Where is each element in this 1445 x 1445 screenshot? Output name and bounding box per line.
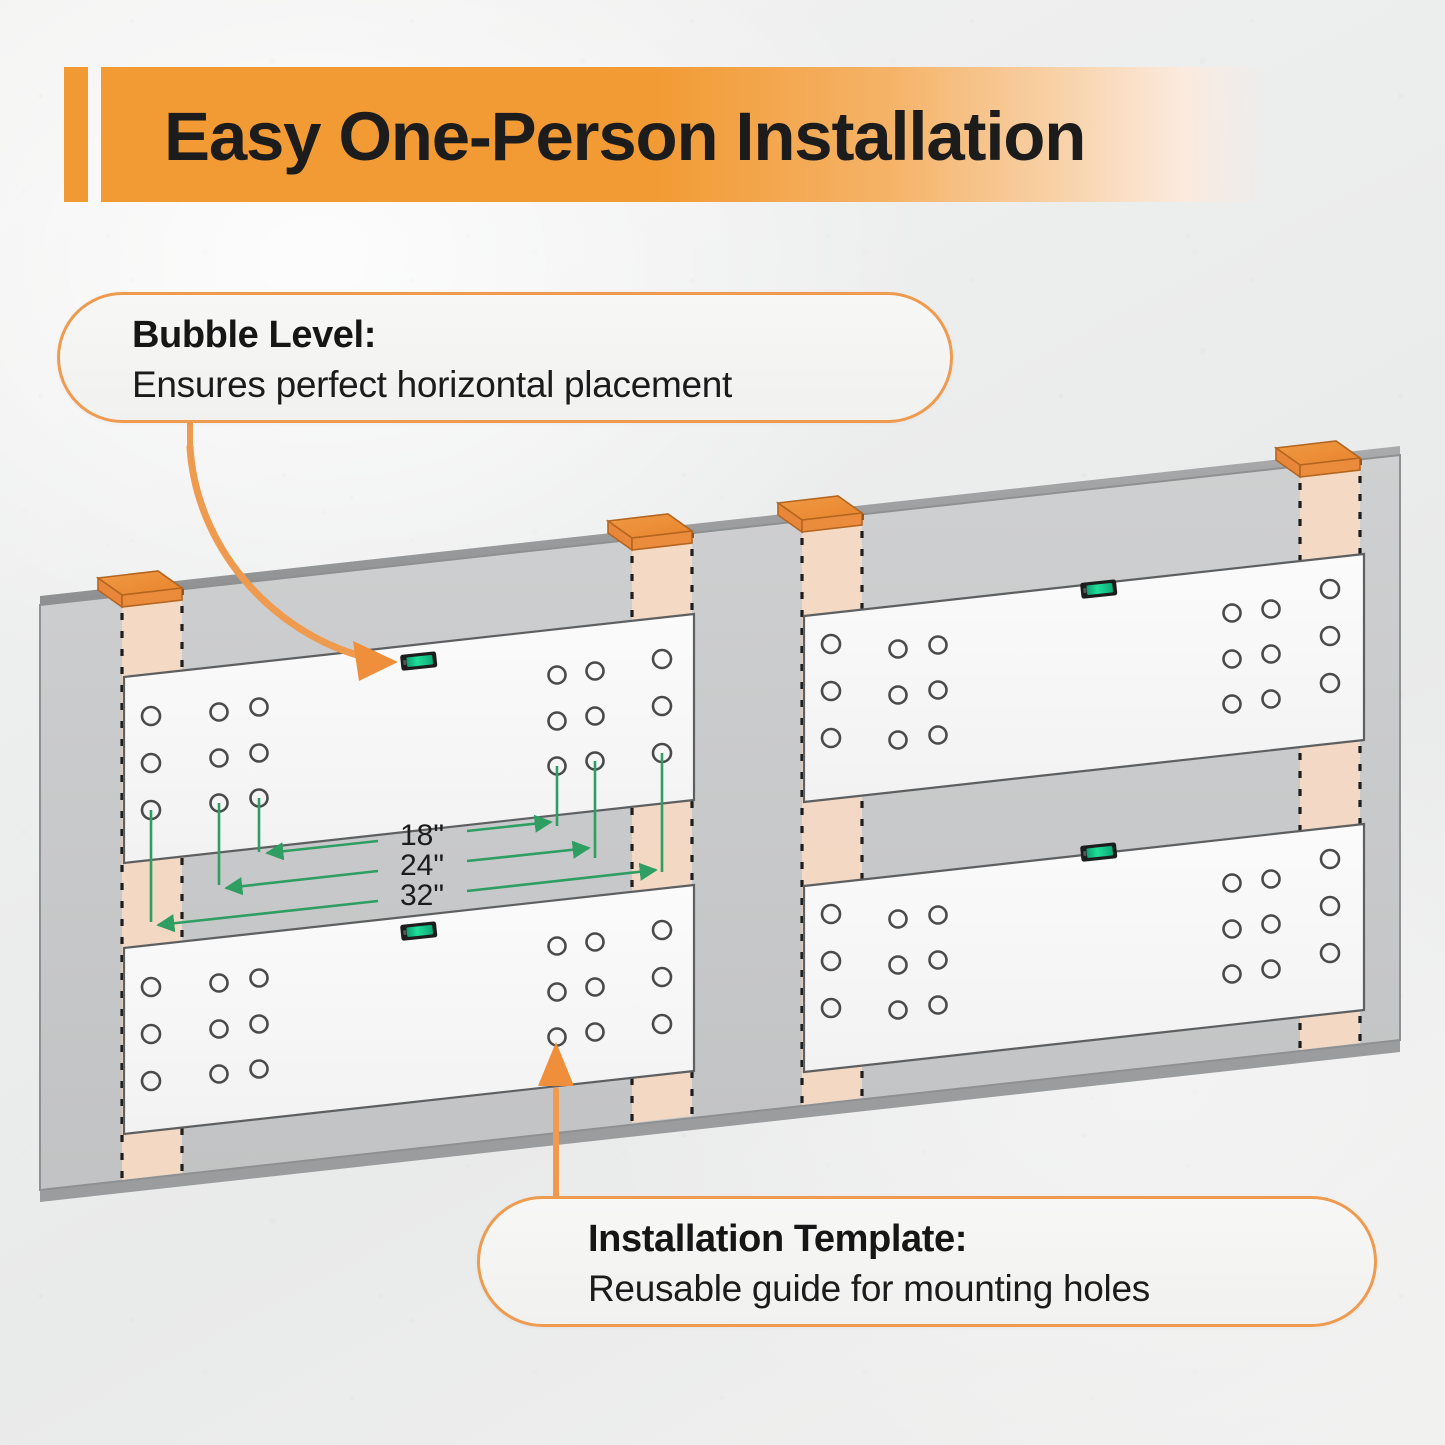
dimension-labels: 18" 24" 32": [400, 819, 444, 912]
callout-installation-template-description: Reusable guide for mounting holes: [588, 1266, 1330, 1311]
dimension-label-24: 24": [400, 849, 444, 882]
callout-bubble-level[interactable]: Bubble Level: Ensures perfect horizontal…: [57, 292, 953, 423]
callout-bubble-level-description: Ensures perfect horizontal placement: [132, 362, 906, 407]
callout-installation-template-title: Installation Template:: [588, 1217, 1330, 1262]
dimension-label-18: 18": [400, 819, 444, 852]
infographic-root: Easy One-Person Installation: [0, 0, 1445, 1445]
callout-bubble-level-title: Bubble Level:: [132, 313, 906, 358]
dimension-label-32: 32": [400, 879, 444, 912]
callout-installation-template[interactable]: Installation Template: Reusable guide fo…: [477, 1196, 1377, 1327]
